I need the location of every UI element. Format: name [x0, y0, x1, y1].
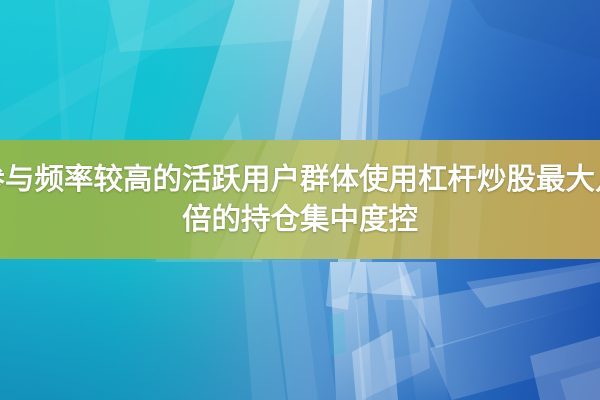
headline-text-block: 参与频率较高的活跃用户群体使用杠杆炒股最大几 倍的持仓集中度控 — [0, 140, 600, 259]
headline-line-1: 参与频率较高的活跃用户群体使用杠杆炒股最大几 — [0, 160, 600, 200]
polygon-band-glow — [348, 262, 416, 296]
polygon-right-dark-fold — [470, 0, 600, 60]
headline-line-2: 倍的持仓集中度控 — [182, 200, 418, 240]
polygon-bl-facet-c — [330, 312, 346, 356]
banner-image: 参与频率较高的活跃用户群体使用杠杆炒股最大几 倍的持仓集中度控 — [0, 0, 600, 400]
